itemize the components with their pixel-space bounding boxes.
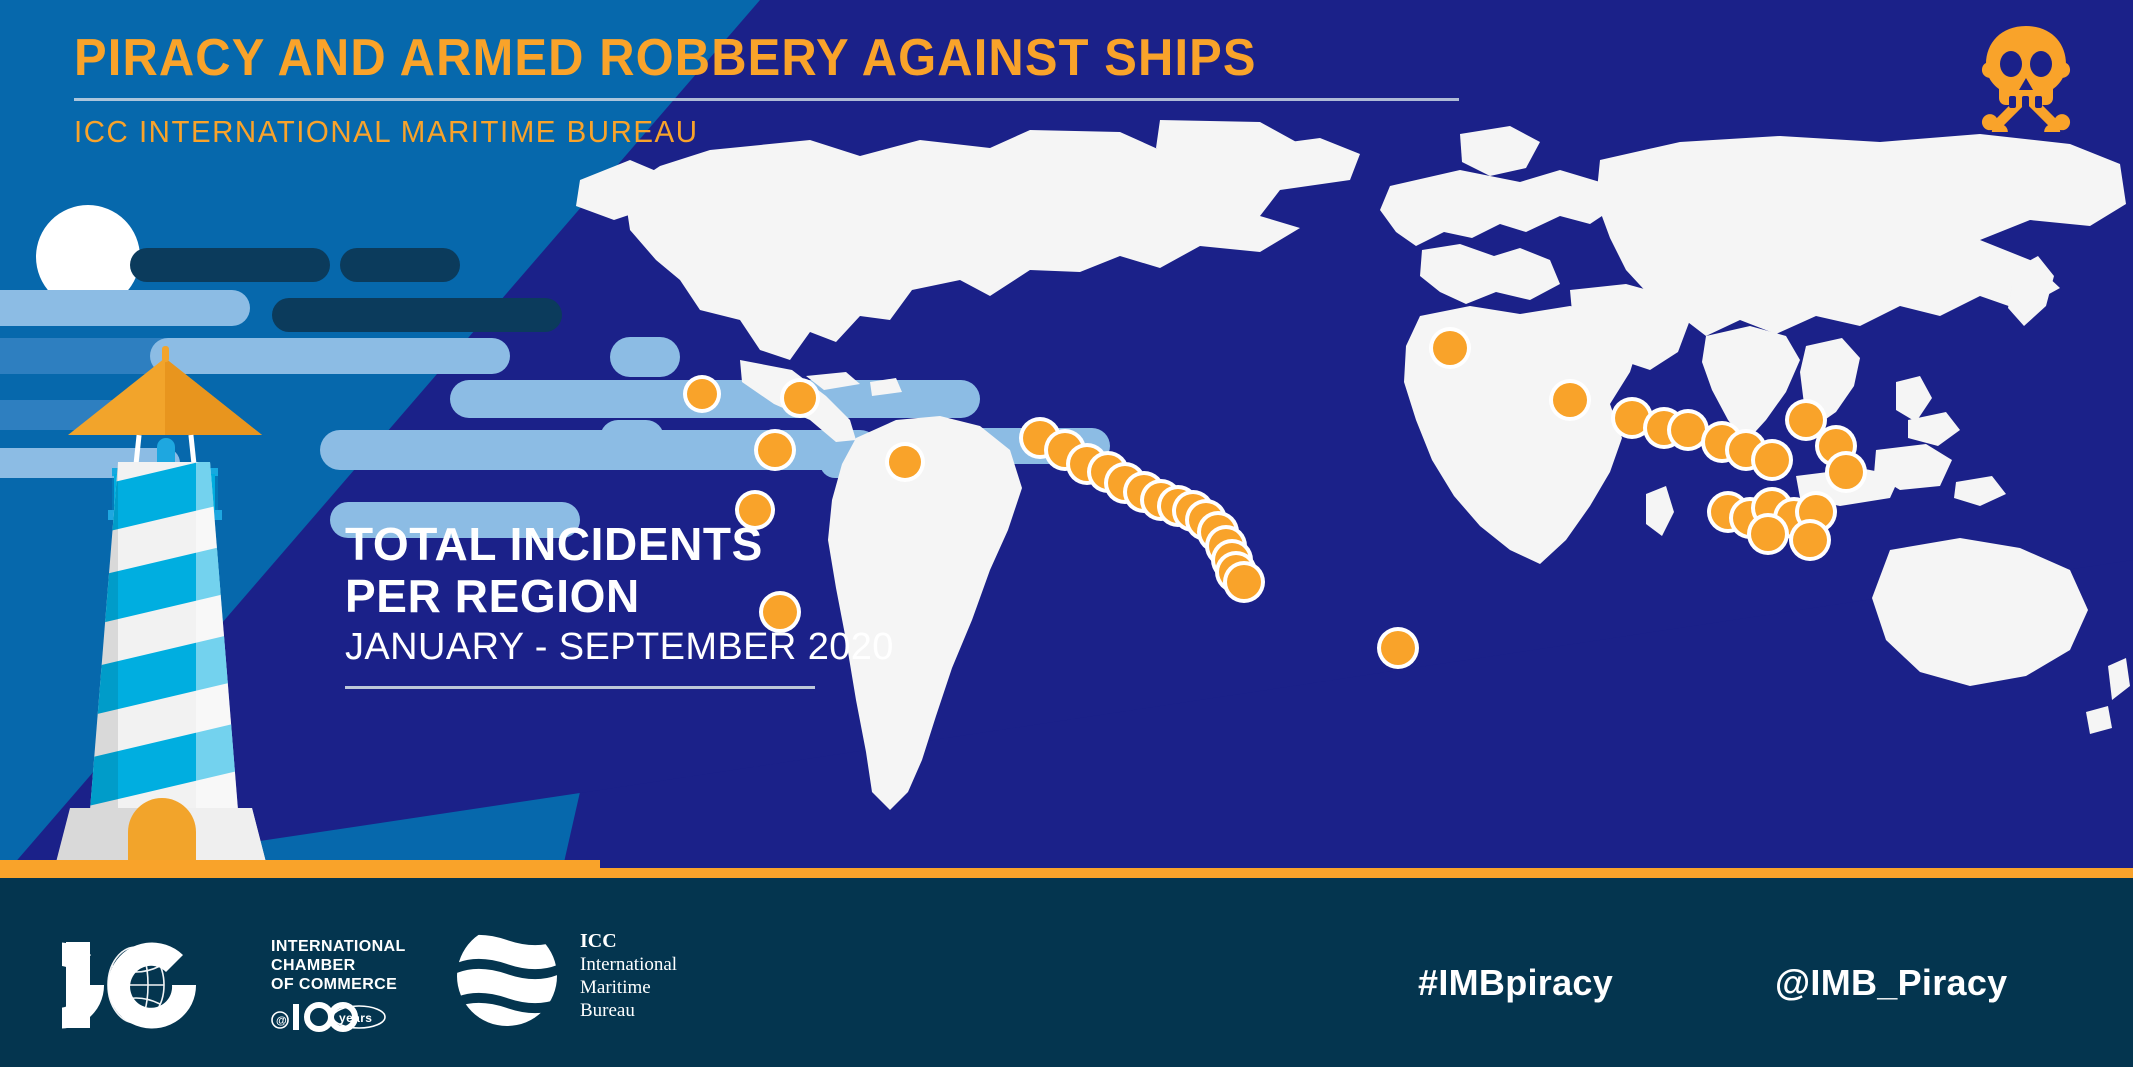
incident-dot[interactable]: Borneo	[1793, 523, 1827, 557]
incident-dot[interactable]: Vietnam	[1755, 443, 1789, 477]
hashtag-label[interactable]: #IMBpiracy	[1418, 962, 1613, 1004]
icc-tagline-line-3: OF COMMERCE	[271, 975, 411, 994]
imb-line-1: ICC	[580, 930, 677, 953]
imb-logo[interactable]: ICC International Maritime Bureau	[452, 922, 677, 1030]
title-underline	[74, 98, 1459, 101]
svg-text:@: @	[276, 1015, 287, 1027]
incident-dot[interactable]: EAfrica	[1381, 631, 1415, 665]
callout-period: JANUARY - SEPTEMBER 2020	[345, 624, 894, 670]
incident-dot[interactable]: Panama	[758, 433, 792, 467]
incident-dot[interactable]: Caribbean	[687, 379, 717, 409]
incident-dot[interactable]: SChinaSea	[1789, 403, 1823, 437]
world-map-svg: CaribbeanCaribbean-EPanamaPeru-NVenezuel…	[560, 120, 2133, 880]
page-subtitle: ICC INTERNATIONAL MARITIME BUREAU	[74, 113, 1461, 151]
page-title: PIRACY AND ARMED ROBBERY AGAINST SHIPS	[74, 28, 1446, 88]
infographic-poster: PIRACY AND ARMED ROBBERY AGAINST SHIPS I…	[0, 0, 2133, 1067]
incident-dot[interactable]: Indonesia-4	[1751, 517, 1785, 551]
incident-dot[interactable]: Venezuela	[889, 446, 921, 478]
header: PIRACY AND ARMED ROBBERY AGAINST SHIPS I…	[74, 28, 1534, 151]
cloud-dark	[340, 248, 460, 282]
icc-years-label: years	[339, 1011, 372, 1025]
callout-underline	[345, 686, 815, 689]
incident-dot[interactable]: ArabianSea	[1433, 331, 1467, 365]
twitter-handle-label[interactable]: @IMB_Piracy	[1775, 962, 2008, 1004]
icc-logo[interactable]: INTERNATIONAL CHAMBER OF COMMERCE @ year…	[62, 930, 411, 1038]
skull-and-crossbones-icon	[1971, 22, 2081, 132]
orange-accent-bar	[0, 860, 600, 878]
incident-dot[interactable]: WAfrica-15	[1227, 565, 1261, 599]
icc-tagline-line-2: CHAMBER	[271, 956, 411, 975]
cloud-dark	[130, 248, 330, 282]
callout-text: TOTAL INCIDENTS PER REGION JANUARY - SEP…	[345, 518, 894, 689]
imb-line-2: International	[580, 953, 677, 976]
callout-line-2: PER REGION	[345, 570, 894, 622]
callout-line-1: TOTAL INCIDENTS	[345, 518, 894, 570]
lighthouse-illustration	[0, 340, 320, 870]
icc-wordmark-icon	[62, 930, 257, 1038]
cloud-dark	[272, 298, 562, 332]
icc-100-years-icon: @ years	[271, 998, 411, 1032]
incident-dot[interactable]: Caribbean-E	[784, 382, 816, 414]
incident-dot[interactable]: Bengal-2	[1671, 413, 1705, 447]
incident-dot[interactable]: India-W	[1553, 383, 1587, 417]
incident-dot[interactable]: Philippines-2	[1829, 455, 1863, 489]
landmasses	[576, 120, 2130, 810]
icc-tagline: INTERNATIONAL CHAMBER OF COMMERCE @ year…	[271, 937, 411, 1032]
imb-line-4: Bureau	[580, 999, 677, 1022]
imb-line-3: Maritime	[580, 976, 677, 999]
waves-globe-icon	[452, 922, 562, 1030]
icc-tagline-line-1: INTERNATIONAL	[271, 937, 411, 956]
world-map: CaribbeanCaribbean-EPanamaPeru-NVenezuel…	[560, 120, 2133, 880]
imb-name: ICC International Maritime Bureau	[580, 930, 677, 1022]
cloud-light	[0, 290, 250, 326]
icc-centenary-mark: @ years	[271, 998, 411, 1032]
